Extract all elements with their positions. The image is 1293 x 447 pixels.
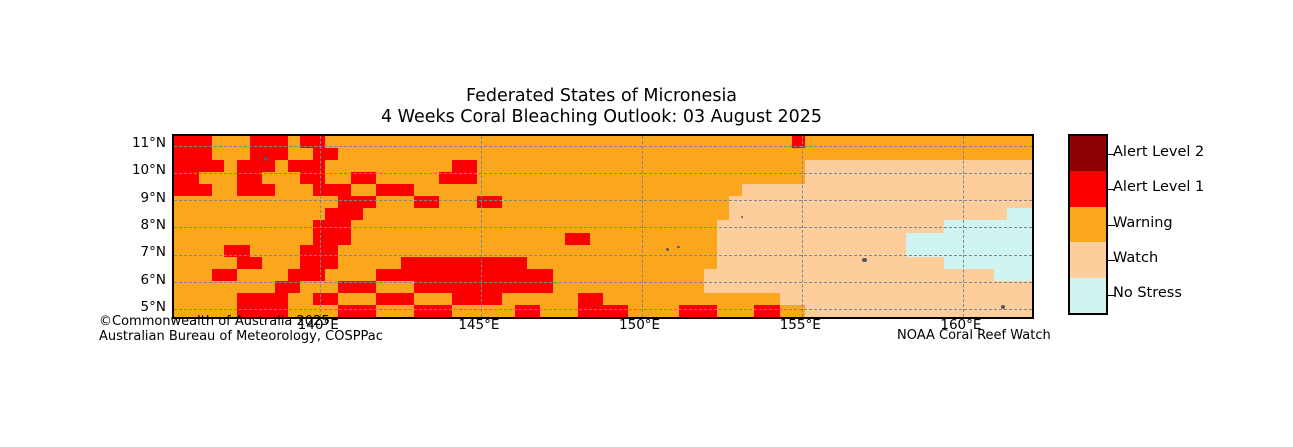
- y-axis-tick-label: 6°N: [106, 274, 166, 288]
- title-line-region: Federated States of Micronesia: [0, 86, 1203, 107]
- y-axis-tick-label: 5°N: [106, 301, 166, 315]
- coral-bleaching-map[interactable]: [172, 134, 1034, 319]
- legend-label-warning: Warning: [1113, 216, 1173, 231]
- island-markers: [174, 136, 1032, 317]
- island-marker: [862, 258, 867, 263]
- legend-label-alert2: Alert Level 2: [1113, 145, 1204, 160]
- attribution-agency: Australian Bureau of Meteorology, COSPPa…: [99, 330, 383, 345]
- legend-swatch-watch[interactable]: [1070, 242, 1106, 278]
- x-axis-tick-label: 150°E: [619, 318, 660, 333]
- island-marker: [677, 246, 679, 248]
- title-line-product: 4 Weeks Coral Bleaching Outlook: 03 Augu…: [0, 107, 1203, 128]
- attribution-noaa: NOAA Coral Reef Watch: [897, 329, 1051, 344]
- legend-swatch-alert1[interactable]: [1070, 171, 1106, 207]
- legend-label-watch: Watch: [1113, 251, 1158, 266]
- attribution-bom: ©Commonwealth of Australia 2025 Australi…: [99, 315, 383, 344]
- island-marker: [666, 248, 669, 251]
- attribution-copyright: ©Commonwealth of Australia 2025: [99, 315, 383, 330]
- x-axis-tick-label: 145°E: [458, 318, 499, 333]
- island-marker: [264, 157, 269, 162]
- y-axis-tick-label: 9°N: [106, 192, 166, 206]
- legend-label-alert1: Alert Level 1: [1113, 180, 1204, 195]
- y-axis: 11°N10°N9°N8°N7°N6°N5°N: [104, 134, 166, 315]
- legend-swatch-alert2[interactable]: [1070, 136, 1106, 172]
- chart-title: Federated States of Micronesia 4 Weeks C…: [0, 86, 1203, 128]
- y-axis-tick-label: 7°N: [106, 246, 166, 260]
- island-marker: [741, 216, 744, 219]
- legend-colorbar[interactable]: [1068, 134, 1108, 315]
- legend-swatch-nostress[interactable]: [1070, 278, 1106, 314]
- legend-swatch-warning[interactable]: [1070, 207, 1106, 243]
- legend-label-nostress: No Stress: [1113, 286, 1182, 301]
- y-axis-tick-label: 8°N: [106, 219, 166, 233]
- island-marker: [1001, 305, 1004, 308]
- y-axis-tick-label: 10°N: [106, 164, 166, 178]
- x-axis-tick-label: 155°E: [780, 318, 821, 333]
- y-axis-tick-label: 11°N: [106, 137, 166, 151]
